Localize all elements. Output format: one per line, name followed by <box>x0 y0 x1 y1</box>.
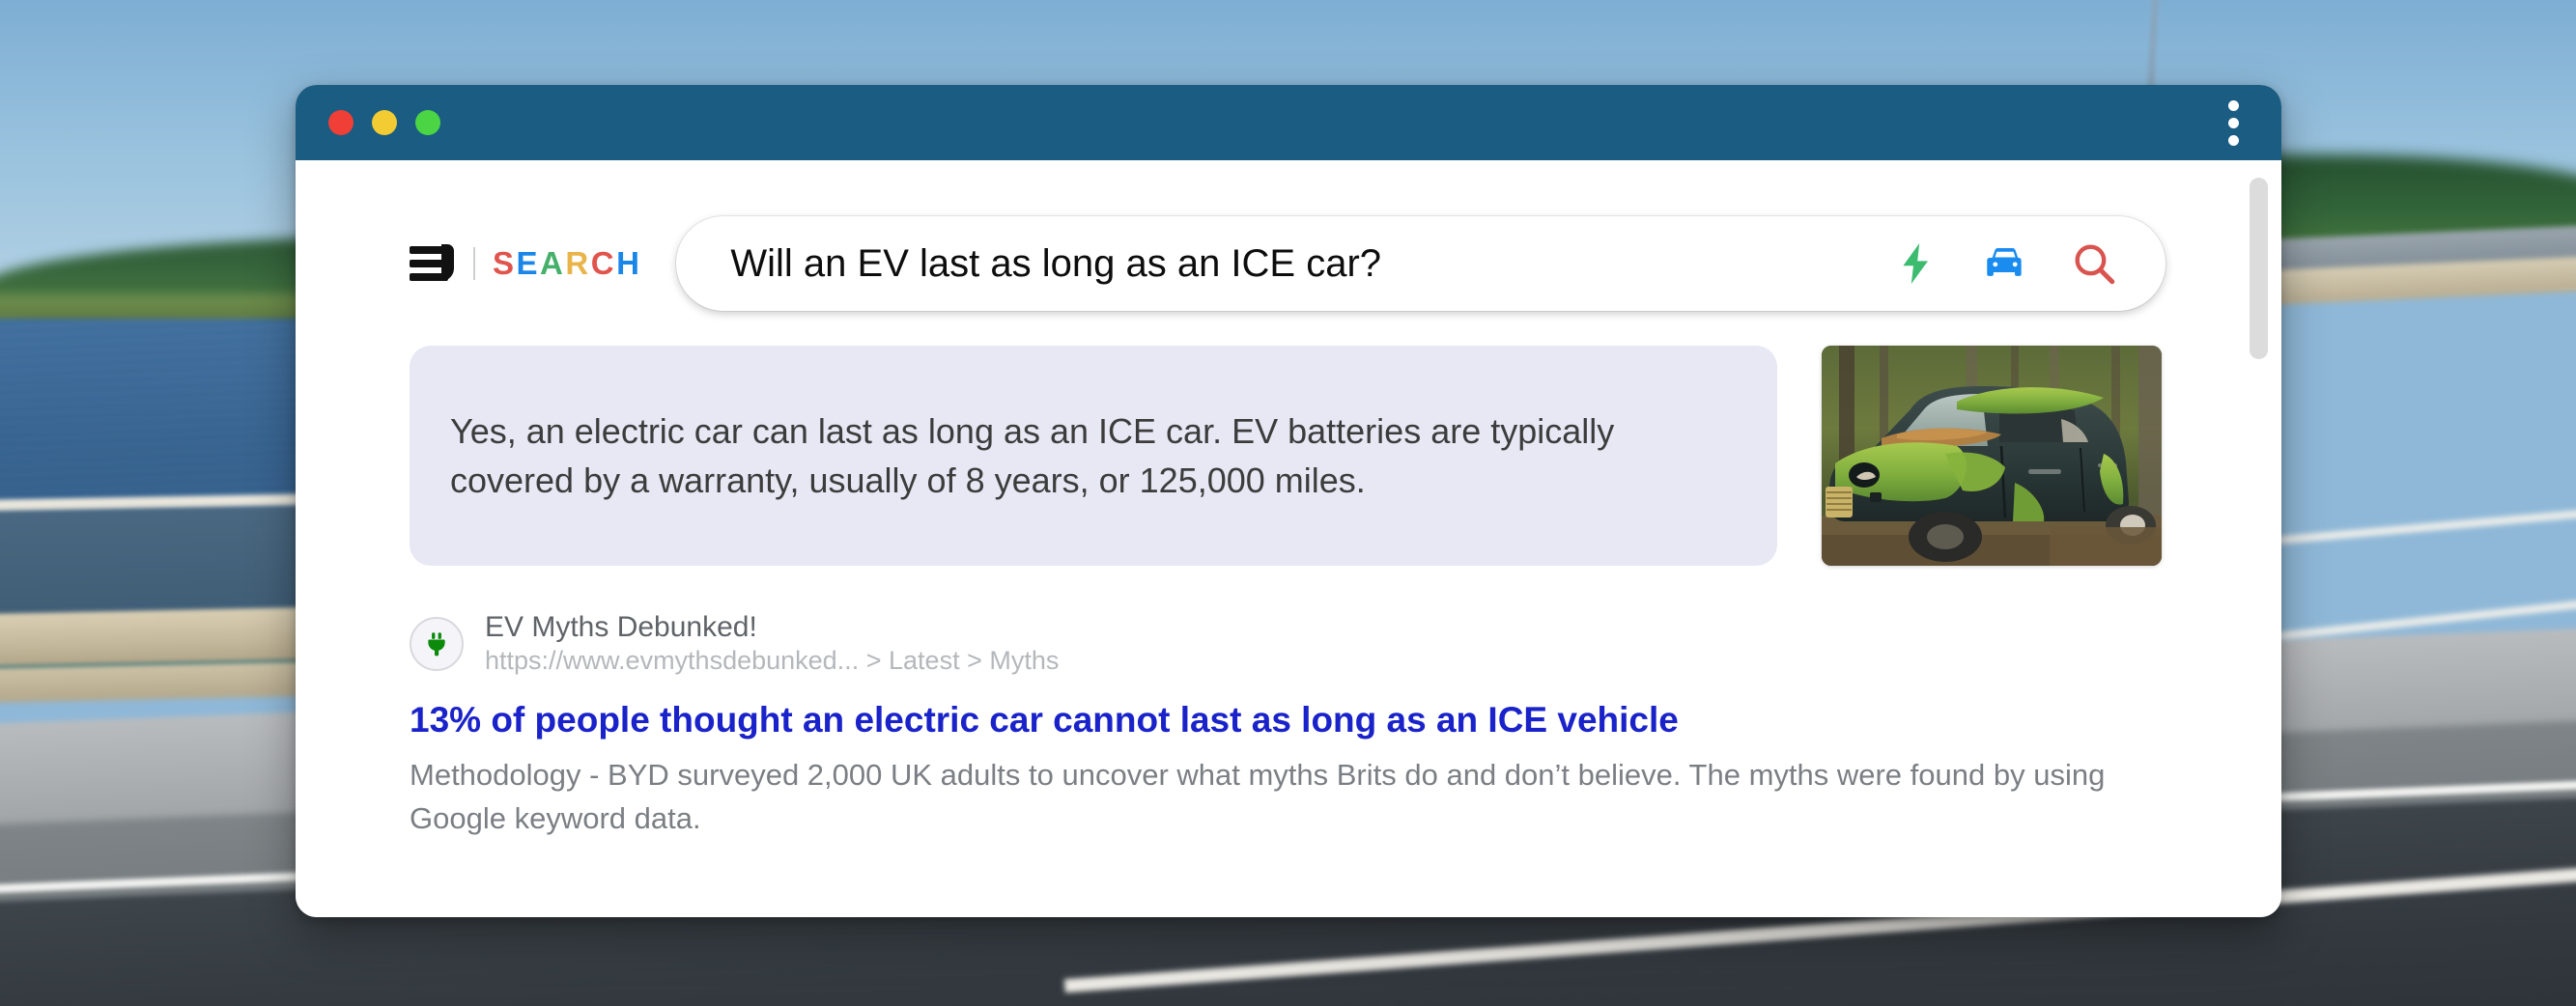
breadcrumb-separator-1: > <box>866 646 882 675</box>
scrollbar-thumb[interactable] <box>2250 178 2268 359</box>
window-controls <box>328 110 440 135</box>
brand-logo[interactable]: SEARCH <box>410 244 641 283</box>
result-site-name: EV Myths Debunked! <box>485 610 1059 644</box>
power-plug-icon <box>410 617 464 671</box>
search-header: SEARCH Will an EV last as long as an ICE… <box>296 160 2281 311</box>
result-header: EV Myths Debunked! https://www.evmythsde… <box>410 610 2281 677</box>
result-url: https://www.evmythsdebunked... <box>485 646 859 675</box>
answer-card: Yes, an electric car can last as long as… <box>410 346 1777 566</box>
answer-text: Yes, an electric car can last as long as… <box>450 406 1696 505</box>
brand-letter-s: S <box>493 245 517 281</box>
search-input[interactable]: Will an EV last as long as an ICE car? <box>730 242 1889 286</box>
breadcrumb-separator-2: > <box>967 646 982 675</box>
breadcrumb-myths: Myths <box>989 646 1059 675</box>
minimize-window-button[interactable] <box>372 110 397 135</box>
browser-titlebar <box>296 85 2281 160</box>
browser-viewport: SEARCH Will an EV last as long as an ICE… <box>296 160 2281 917</box>
result-url-breadcrumb: https://www.evmythsdebunked... > Latest … <box>485 646 1059 677</box>
browser-window: SEARCH Will an EV last as long as an ICE… <box>296 85 2281 917</box>
brand-letter-h: H <box>616 245 641 281</box>
car-icon[interactable] <box>1978 237 2032 291</box>
lightning-bolt-icon[interactable] <box>1889 237 1943 291</box>
search-result-item: EV Myths Debunked! https://www.evmythsde… <box>296 566 2281 841</box>
search-bar-icons <box>1889 237 2121 291</box>
brand-b-logo-icon <box>410 244 454 283</box>
brand-letter-e: E <box>517 245 541 281</box>
result-title-link[interactable]: 13% of people thought an electric car ca… <box>410 700 2281 741</box>
close-window-button[interactable] <box>328 110 354 135</box>
result-snippet: Methodology - BYD surveyed 2,000 UK adul… <box>410 754 2148 841</box>
brand-letter-c: C <box>591 245 616 281</box>
answer-row: Yes, an electric car can last as long as… <box>296 311 2281 566</box>
brand-letter-r: R <box>565 245 590 281</box>
result-thumbnail-image[interactable] <box>1822 346 2162 566</box>
search-icon[interactable] <box>2067 237 2121 291</box>
brand-divider <box>473 247 475 280</box>
kebab-menu-icon[interactable] <box>2215 93 2252 154</box>
brand-letter-a: A <box>540 245 565 281</box>
maximize-window-button[interactable] <box>415 110 440 135</box>
search-bar[interactable]: Will an EV last as long as an ICE car? <box>676 216 2166 311</box>
brand-wordmark: SEARCH <box>493 245 641 282</box>
breadcrumb-latest: Latest <box>889 646 960 675</box>
result-site-info[interactable]: EV Myths Debunked! https://www.evmythsde… <box>485 610 1059 677</box>
